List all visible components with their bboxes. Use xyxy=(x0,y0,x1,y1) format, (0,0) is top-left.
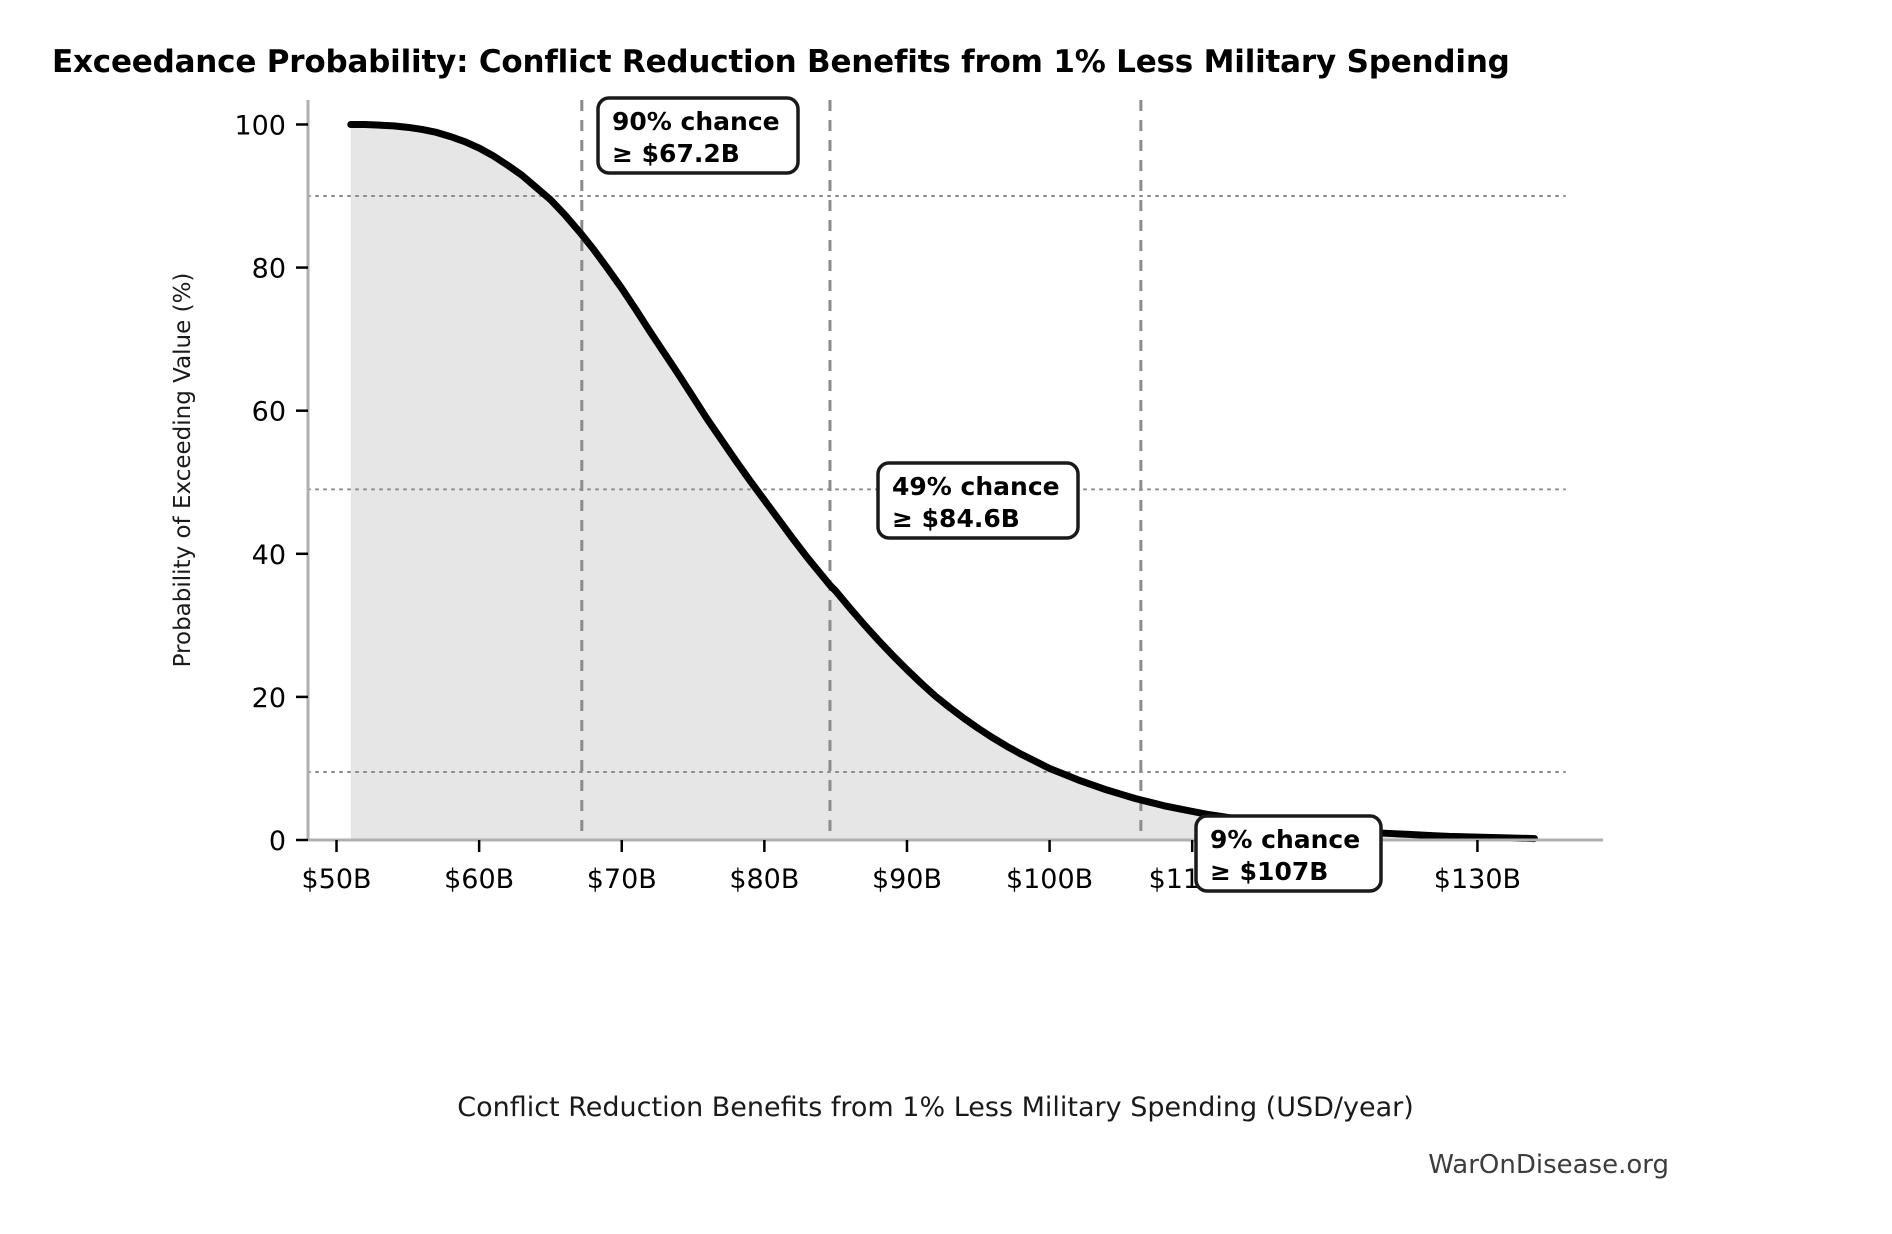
annotation-p9: 9% chance≥ $107B xyxy=(1196,816,1381,891)
x-tick-label: $70B xyxy=(587,864,657,895)
x-tick-label: $60B xyxy=(444,864,514,895)
y-axis-title: Probability of Exceeding Value (%) xyxy=(170,273,196,668)
chart-page: Exceedance Probability: Conflict Reducti… xyxy=(0,0,1892,1234)
annotation-p90: 90% chance≥ $67.2B xyxy=(598,98,798,173)
y-tick-label: 80 xyxy=(252,254,286,285)
annotation-line-2: ≥ $107B xyxy=(1210,857,1328,886)
x-tick-label: $80B xyxy=(729,864,799,895)
watermark-label: WarOnDisease.org xyxy=(1428,1150,1669,1180)
annotation-line-2: ≥ $84.6B xyxy=(892,504,1020,533)
x-axis-title: Conflict Reduction Benefits from 1% Less… xyxy=(308,1092,1563,1123)
y-tick-label: 60 xyxy=(252,397,286,428)
exceedance-probability-chart: $50B$60B$70B$80B$90B$100B$110B$120B$130B… xyxy=(0,0,1892,1234)
x-tick-label: $130B xyxy=(1434,864,1521,895)
x-tick-label: $50B xyxy=(301,864,371,895)
y-tick-label: 40 xyxy=(252,540,286,571)
y-tick-label: 100 xyxy=(234,110,286,141)
annotation-line-1: 49% chance xyxy=(892,472,1060,501)
y-tick-label: 20 xyxy=(252,683,286,714)
annotation-line-1: 9% chance xyxy=(1210,825,1360,854)
y-tick-label: 0 xyxy=(269,826,286,857)
x-tick-label: $100B xyxy=(1006,864,1093,895)
annotation-line-2: ≥ $67.2B xyxy=(612,139,740,168)
annotation-p49: 49% chance≥ $84.6B xyxy=(878,463,1078,538)
x-tick-label: $90B xyxy=(872,864,942,895)
annotation-line-1: 90% chance xyxy=(612,107,780,136)
